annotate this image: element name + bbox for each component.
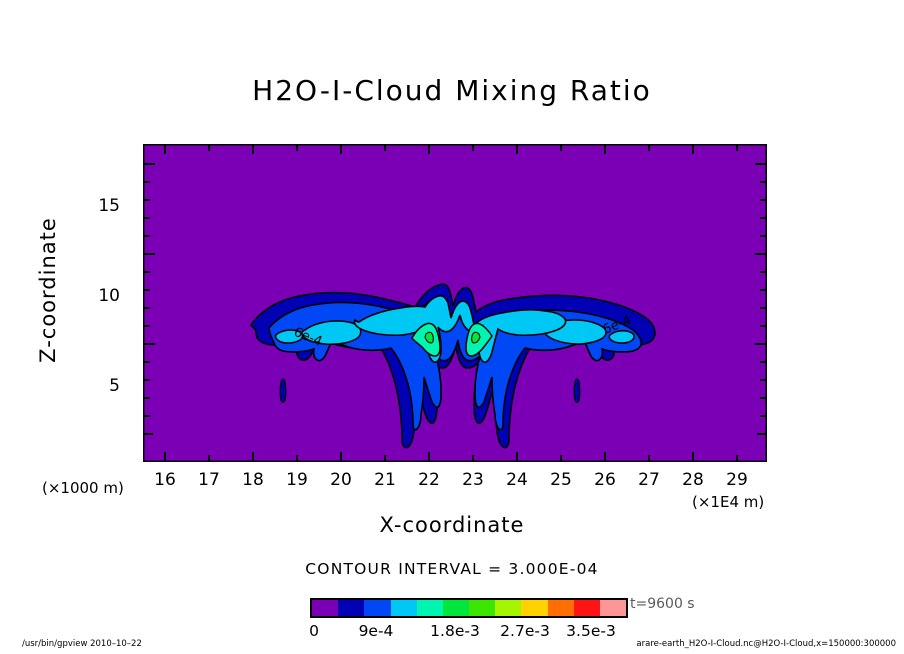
y-axis-title: Z-coordinate [36, 215, 60, 365]
x-tick-label-16: 16 [145, 470, 185, 490]
colorbar-tick-3: 2.7e-3 [492, 622, 558, 640]
contour-streak-right [574, 379, 580, 402]
y-tick-label-10: 10 [80, 286, 120, 306]
x-tick-label-27: 27 [629, 470, 669, 490]
colorbar-segment-2 [364, 600, 390, 616]
colorbar-tick-2: 1.8e-3 [422, 622, 488, 640]
x-tick-label-28: 28 [673, 470, 713, 490]
y-tick-label-15: 15 [80, 196, 120, 216]
x-tick-label-24: 24 [497, 470, 537, 490]
colorbar-tick-0: 0 [296, 622, 332, 640]
colorbar [310, 598, 628, 618]
timestamp-label: t=9600 s [630, 596, 695, 612]
x-tick-label-20: 20 [321, 470, 361, 490]
contour-interval-text: CONTOUR INTERVAL = 3.000E-04 [0, 560, 904, 578]
contour-plot: 6e-4 6e-4 [143, 144, 767, 462]
y-tick-label-5: 5 [80, 376, 120, 396]
x-tick-label-23: 23 [453, 470, 493, 490]
colorbar-segment-3 [391, 600, 417, 616]
colorbar-segment-6 [469, 600, 495, 616]
x-tick-label-21: 21 [365, 470, 405, 490]
contour-plot-svg: 6e-4 6e-4 [143, 144, 767, 462]
colorbar-segment-1 [338, 600, 364, 616]
x-tick-label-19: 19 [277, 470, 317, 490]
x-tick-label-26: 26 [585, 470, 625, 490]
footer-right: arare-earth_H2O-I-Cloud.nc@H2O-I-Cloud,x… [636, 639, 896, 649]
colorbar-segment-8 [521, 600, 547, 616]
colorbar-segment-4 [417, 600, 443, 616]
x-tick-label-29: 29 [717, 470, 757, 490]
colorbar-segment-7 [495, 600, 521, 616]
colorbar-tick-4: 3.5e-3 [558, 622, 624, 640]
colorbar-segment-11 [600, 600, 626, 616]
x-tick-label-25: 25 [541, 470, 581, 490]
contour-streak-left [280, 379, 286, 402]
colorbar-segment-5 [443, 600, 469, 616]
colorbar-segment-0 [312, 600, 338, 616]
x-axis-unit: (×1E4 m) [692, 493, 764, 511]
colorbar-segment-9 [548, 600, 574, 616]
x-tick-label-22: 22 [409, 470, 449, 490]
colorbar-segment-10 [574, 600, 600, 616]
x-axis-title: X-coordinate [0, 513, 904, 537]
x-tick-label-17: 17 [189, 470, 229, 490]
colorbar-tick-1: 9e-4 [348, 622, 404, 640]
page-title: H2O-I-Cloud Mixing Ratio [0, 74, 904, 107]
x-tick-label-18: 18 [233, 470, 273, 490]
y-axis-unit: (×1000 m) [42, 479, 124, 497]
footer-left: /usr/bin/gpview 2010–10–22 [22, 639, 142, 649]
